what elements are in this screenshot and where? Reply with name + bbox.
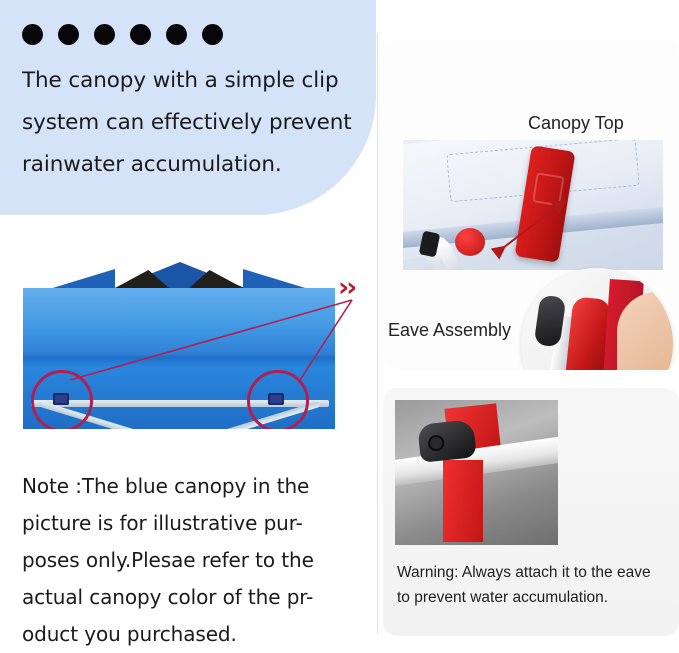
bullet-dot-icon [166, 24, 187, 45]
right-column: Canopy Top [383, 0, 679, 653]
eave-assembly-inset-photo [521, 268, 673, 370]
eave-attachment-photo [395, 400, 558, 545]
note-text: Note :The blue canopy in the picture is … [22, 468, 352, 653]
infographic-page: The canopy with a simple clip system can… [0, 0, 679, 653]
black-clip [417, 419, 477, 463]
red-strap-lower [443, 460, 483, 542]
canopy-top-card: Canopy Top [383, 40, 679, 370]
highlight-circle-left [31, 370, 93, 429]
chevron-right-icon: ›› [338, 272, 354, 303]
canopy-top-photo [403, 140, 663, 270]
canopy-sheen [23, 288, 335, 354]
left-column: The canopy with a simple clip system can… [0, 0, 376, 653]
double-arrow-icon [403, 140, 663, 270]
highlight-circle-right [247, 370, 309, 429]
bullet-dot-icon [58, 24, 79, 45]
canopy-illustration [0, 240, 376, 455]
headline-text: The canopy with a simple clip system can… [22, 60, 362, 186]
warning-card: Warning: Always attach it to the eave to… [383, 388, 679, 636]
column-divider [377, 34, 378, 634]
dot-row [22, 24, 223, 45]
warning-text: Warning: Always attach it to the eave to… [397, 560, 667, 610]
bullet-dot-icon [202, 24, 223, 45]
bullet-dot-icon [22, 24, 43, 45]
canopy-photo [23, 262, 335, 429]
headline-callout-box: The canopy with a simple clip system can… [0, 0, 376, 215]
bullet-dot-icon [94, 24, 115, 45]
canopy-top-label: Canopy Top [528, 113, 624, 134]
bullet-dot-icon [130, 24, 151, 45]
eave-assembly-label: Eave Assembly [388, 320, 511, 341]
